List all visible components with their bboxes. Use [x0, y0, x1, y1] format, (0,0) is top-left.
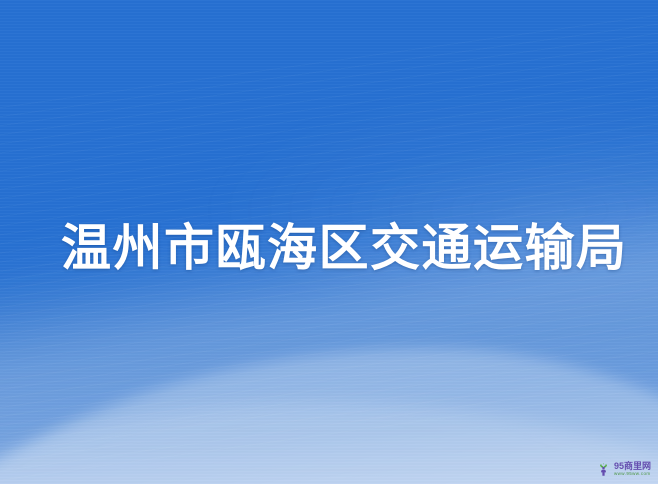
site-banner: 温州市瓯海区交通运输局 95商里网 www.95ww.com — [0, 0, 658, 484]
page-title: 温州市瓯海区交通运输局 — [61, 222, 618, 275]
watermark-url: www.95ww.com — [614, 472, 651, 477]
banner-title-container: 温州市瓯海区交通运输局 — [61, 222, 618, 275]
watermark: 95商里网 www.95ww.com — [596, 462, 651, 477]
watermark-text: 95商里网 www.95ww.com — [614, 462, 651, 477]
watermark-name: 95商里网 — [614, 462, 651, 471]
sprout-person-icon — [596, 462, 611, 477]
